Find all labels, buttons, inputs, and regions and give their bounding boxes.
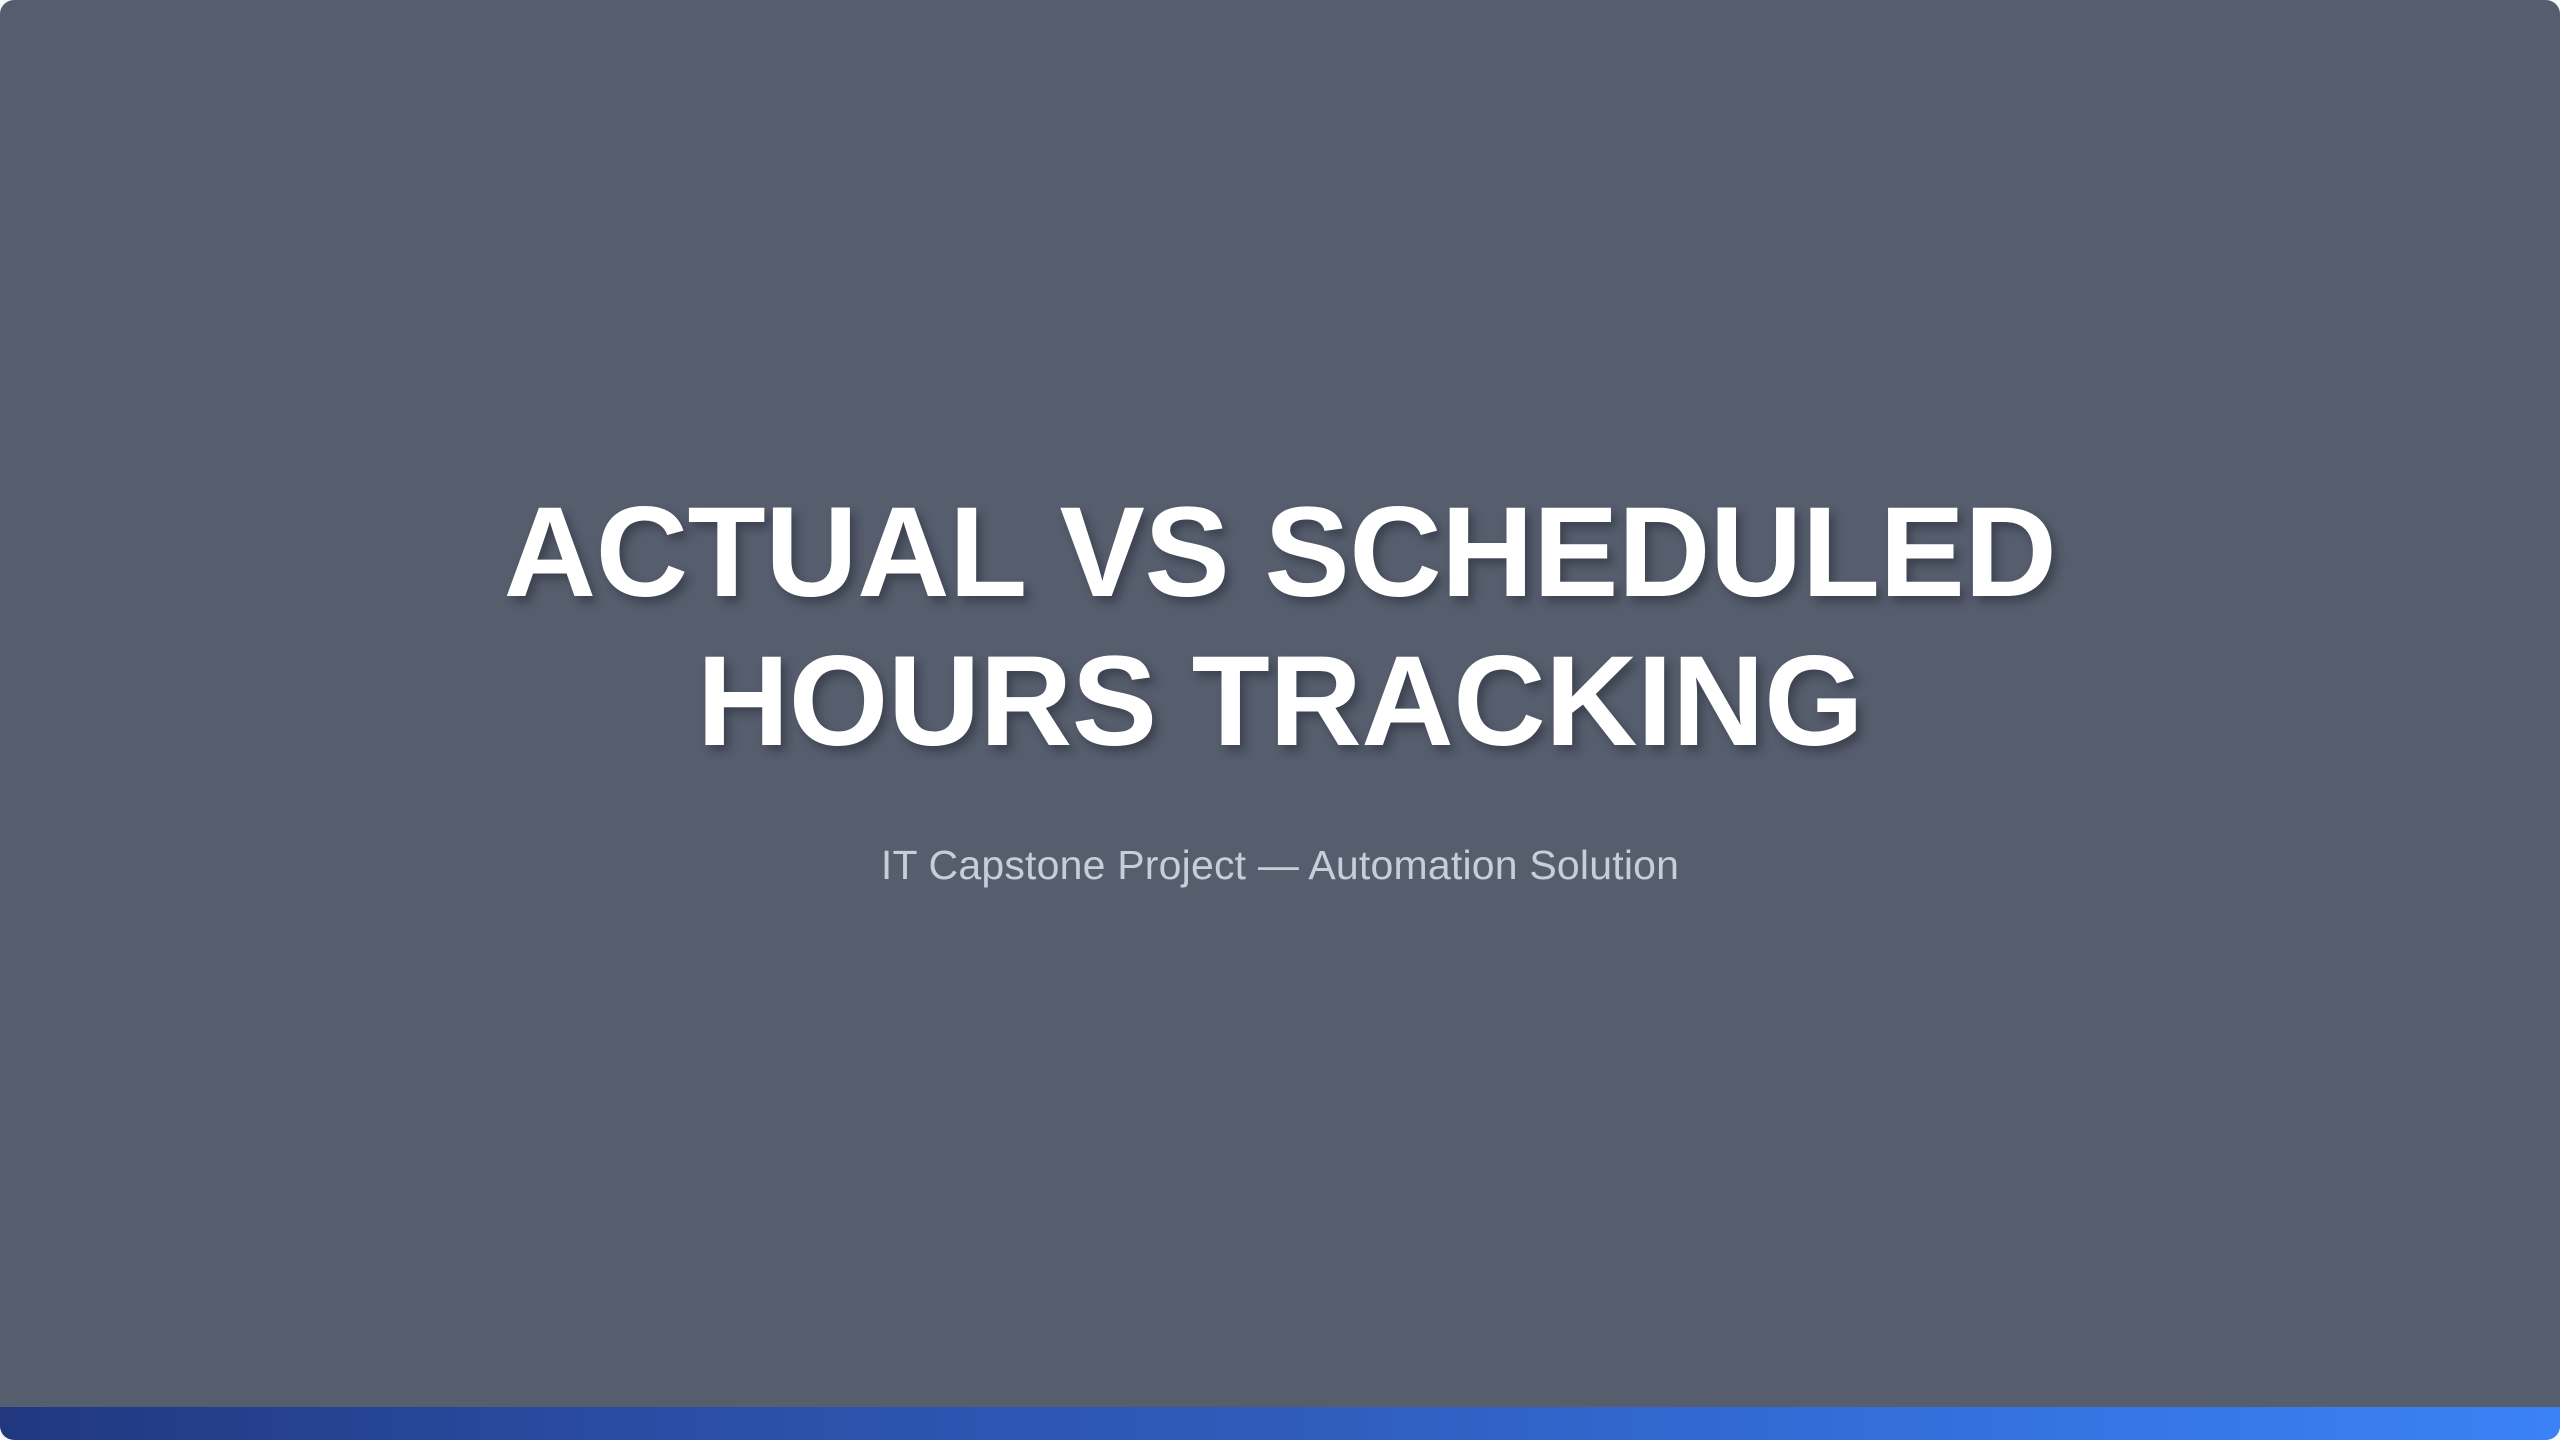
slide-title: Actual vs Scheduled Hours Tracking bbox=[330, 478, 2230, 778]
bottom-accent-bar bbox=[0, 1407, 2560, 1440]
presentation-canvas: Actual vs Scheduled Hours Tracking IT Ca… bbox=[0, 0, 2560, 1440]
title-slide: Actual vs Scheduled Hours Tracking IT Ca… bbox=[0, 0, 2560, 1440]
slide-subtitle: IT Capstone Project — Automation Solutio… bbox=[330, 777, 2230, 892]
slide-content: Actual vs Scheduled Hours Tracking IT Ca… bbox=[0, 0, 2560, 1440]
